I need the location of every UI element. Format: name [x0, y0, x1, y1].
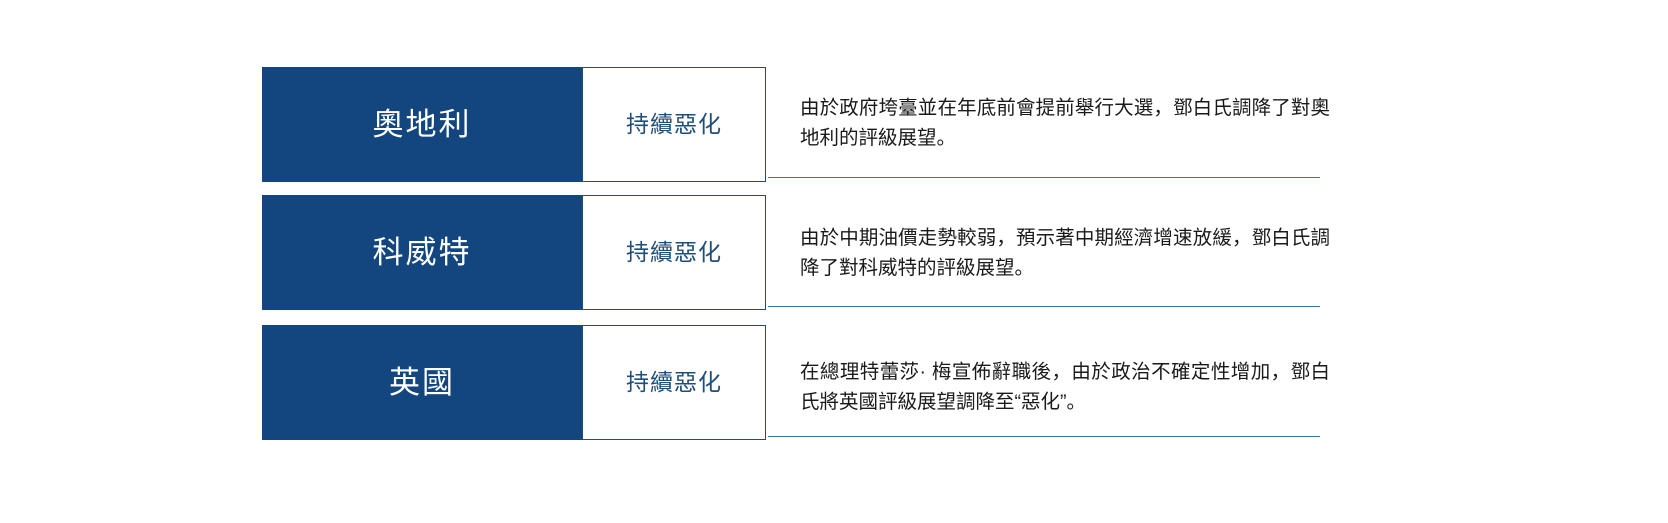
- country-cell: 英國: [262, 325, 582, 440]
- row-divider: [768, 177, 1320, 178]
- country-label: 科威特: [373, 237, 472, 268]
- row-divider: [768, 306, 1320, 307]
- status-badge: 持續惡化: [626, 241, 722, 264]
- status-badge: 持續惡化: [626, 113, 722, 136]
- country-label: 英國: [389, 367, 455, 398]
- description-text: 由於政府垮臺並在年底前會提前舉行大選，鄧白氏調降了對奧地利的評級展望。: [800, 93, 1330, 153]
- row-divider: [768, 436, 1320, 437]
- ratings-outlook-board: 奧地利 持續惡化 由於政府垮臺並在年底前會提前舉行大選，鄧白氏調降了對奧地利的評…: [0, 0, 1668, 523]
- description-text: 由於中期油價走勢較弱，預示著中期經濟增速放緩，鄧白氏調降了對科威特的評級展望。: [800, 223, 1330, 283]
- table-row: 科威特 持續惡化: [262, 195, 766, 310]
- status-cell: 持續惡化: [582, 67, 766, 182]
- status-badge: 持續惡化: [626, 371, 722, 394]
- country-cell: 奧地利: [262, 67, 582, 182]
- description-text: 在總理特蕾莎· 梅宣佈辭職後，由於政治不確定性增加，鄧白氏將英國評級展望調降至“…: [800, 357, 1330, 417]
- status-cell: 持續惡化: [582, 325, 766, 440]
- table-row: 奧地利 持續惡化: [262, 67, 766, 182]
- country-label: 奧地利: [373, 109, 472, 140]
- table-row: 英國 持續惡化: [262, 325, 766, 440]
- country-cell: 科威特: [262, 195, 582, 310]
- status-cell: 持續惡化: [582, 195, 766, 310]
